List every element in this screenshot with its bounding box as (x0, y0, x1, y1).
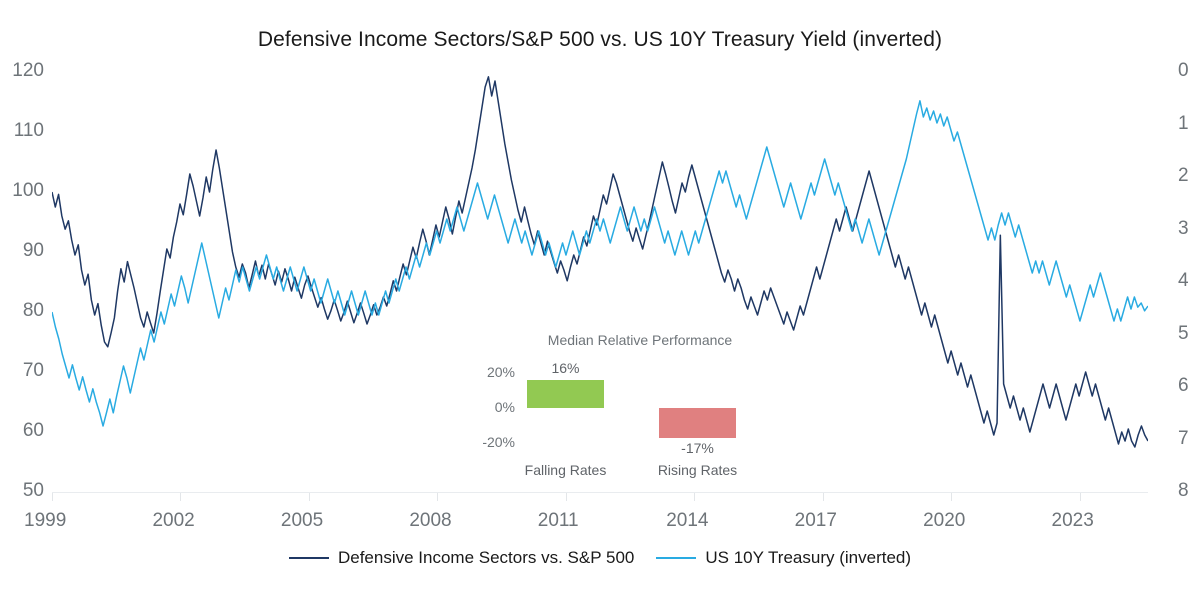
x-axis-tick-mark (694, 493, 695, 501)
x-axis-tick-mark (566, 493, 567, 501)
inset-bar (659, 408, 736, 438)
x-axis-tick-mark (437, 493, 438, 501)
y-axis-right-tick: 3 (1178, 218, 1189, 240)
inset-bar-category-label: Falling Rates (506, 462, 626, 478)
inset-y-tick-label: 0% (495, 399, 515, 415)
chart-legend: Defensive Income Sectors vs. S&P 500US 1… (0, 548, 1200, 568)
y-axis-right-tick: 7 (1178, 428, 1189, 450)
x-axis-tick-mark (309, 493, 310, 501)
y-axis-right-tick: 5 (1178, 323, 1189, 345)
y-axis-right-tick: 1 (1178, 113, 1189, 135)
legend-label: Defensive Income Sectors vs. S&P 500 (338, 548, 634, 568)
y-axis-left-tick: 60 (23, 420, 44, 442)
x-axis-tick-label: 2023 (1052, 510, 1094, 532)
x-axis-tick-mark (951, 493, 952, 501)
x-axis-tick-label: 2011 (538, 510, 579, 532)
x-axis-tick-label: 2008 (409, 510, 451, 532)
x-axis-line (52, 492, 1148, 493)
y-axis-right-tick: 6 (1178, 375, 1189, 397)
x-axis-tick-mark (823, 493, 824, 501)
chart-title: Defensive Income Sectors/S&P 500 vs. US … (0, 28, 1200, 52)
y-axis-left-tick: 50 (23, 480, 44, 502)
y-axis-right-tick: 4 (1178, 270, 1189, 292)
y-axis-left-tick: 100 (12, 180, 44, 202)
x-axis-tick-mark (52, 493, 53, 501)
y-axis-right-tick: 8 (1178, 480, 1189, 502)
y-axis-left-tick: 80 (23, 300, 44, 322)
legend-item[interactable]: Defensive Income Sectors vs. S&P 500 (289, 548, 634, 568)
inset-bar-value-label: 16% (506, 360, 626, 376)
inset-bar-category-label: Rising Rates (638, 462, 758, 478)
inset-bar-value-label: -17% (638, 440, 758, 456)
x-axis-tick-mark (180, 493, 181, 501)
x-axis-tick-label: 1999 (24, 510, 66, 532)
x-axis-tick-label: 2020 (923, 510, 965, 532)
y-axis-left-tick: 90 (23, 240, 44, 262)
legend-label: US 10Y Treasury (inverted) (705, 548, 911, 568)
inset-bar (527, 380, 604, 408)
chart-container: Defensive Income Sectors/S&P 500 vs. US … (0, 0, 1200, 600)
inset-bar-chart: Median Relative Performance 20%0%-20% 16… (430, 332, 770, 487)
x-axis-tick-mark (1080, 493, 1081, 501)
inset-title: Median Relative Performance (510, 332, 770, 348)
legend-item[interactable]: US 10Y Treasury (inverted) (656, 548, 911, 568)
y-axis-left-tick: 120 (12, 60, 44, 82)
y-axis-left-tick: 110 (14, 120, 44, 142)
x-axis-tick-label: 2014 (666, 510, 708, 532)
inset-y-tick-label: -20% (482, 434, 515, 450)
y-axis-right-tick: 2 (1178, 165, 1189, 187)
x-axis-tick-label: 2005 (281, 510, 323, 532)
y-axis-right-tick: 0 (1178, 60, 1189, 82)
x-axis-tick-label: 2002 (152, 510, 194, 532)
y-axis-left-tick: 70 (23, 360, 44, 382)
x-axis-tick-label: 2017 (795, 510, 837, 532)
legend-line-swatch (656, 557, 696, 559)
legend-line-swatch (289, 557, 329, 559)
